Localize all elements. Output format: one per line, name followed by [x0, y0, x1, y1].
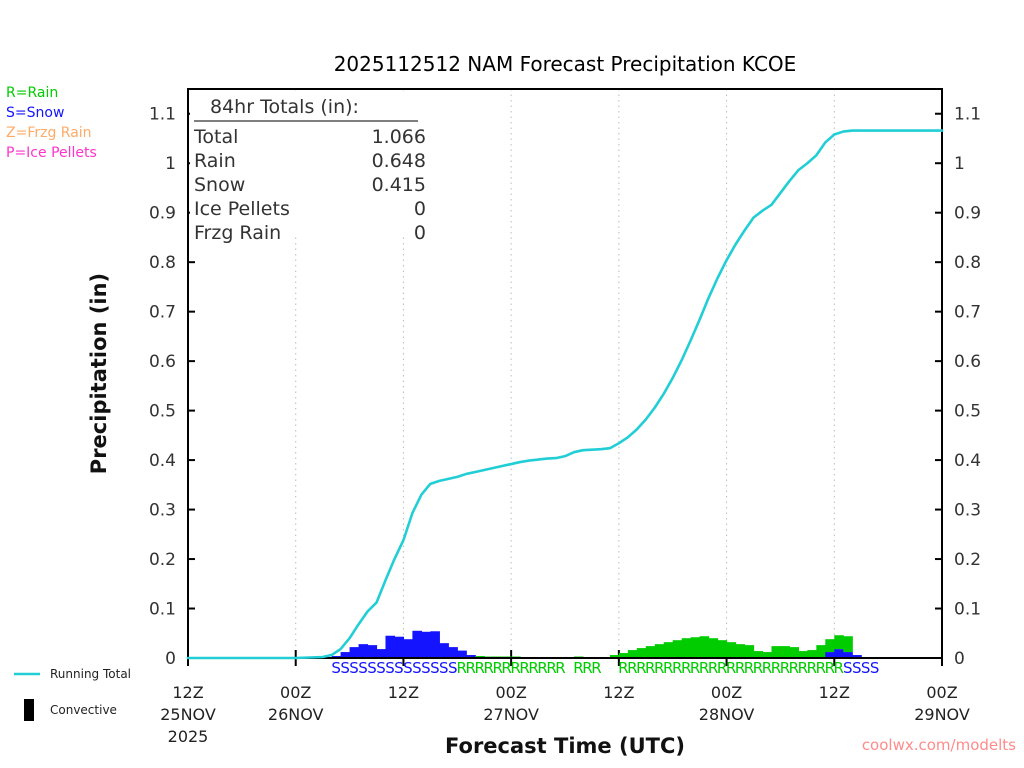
precip-bar-rain [771, 646, 781, 658]
x-tick-date: 25NOV [160, 705, 216, 724]
y-tick-label-right: 1 [954, 154, 965, 174]
legend-swatch-bar [24, 699, 34, 721]
x-tick-time: 12Z [172, 683, 203, 702]
precip-bar-rain [700, 636, 710, 658]
x-tick-time: 00Z [711, 683, 742, 702]
precip-bar-rain [816, 645, 826, 658]
totals-row-value: 0 [414, 198, 426, 220]
precip-bar-rain [691, 637, 701, 658]
precip-bar-snow [834, 649, 844, 658]
precip-bar-rain [673, 640, 683, 658]
precip-bar-snow [421, 632, 431, 658]
precip-bar-snow [448, 647, 458, 658]
x-tick-time: 00Z [280, 683, 311, 702]
x-tick-time: 12Z [388, 683, 419, 702]
ptype-legend-item-R: R=Rain [6, 85, 58, 101]
series-legend: Running TotalConvective [14, 667, 131, 721]
precip-bar-rain [843, 636, 853, 652]
totals-row-label: Snow [194, 174, 245, 196]
y-tick-label-left: 0.5 [149, 402, 176, 422]
precip-bar-rain [834, 635, 844, 649]
precip-bar-rain [628, 650, 638, 658]
precip-bar-snow [457, 651, 467, 658]
x-tick-date: 27NOV [483, 705, 539, 724]
precip-bar-rain [646, 646, 656, 658]
ptype-legend-item-S: S=Snow [6, 105, 64, 121]
precip-bar-rain [825, 639, 835, 652]
y-tick-label-left: 0.3 [149, 501, 176, 521]
totals-heading: 84hr Totals (in): [210, 96, 359, 118]
meteogram-page: 2025112512 NAM Forecast Precipitation KC… [0, 0, 1024, 768]
precip-bar-rain [718, 640, 728, 658]
y-tick-label-right: 0 [954, 649, 965, 669]
precip-bar-rain [807, 650, 817, 658]
ptype-legend: R=RainS=SnowZ=Frzg RainP=Ice Pellets [6, 85, 97, 161]
precip-bar-rain [754, 651, 764, 658]
x-tick-date: 29NOV [914, 705, 970, 724]
y-tick-label-left: 0.6 [149, 352, 176, 372]
y-tick-label-left: 0.7 [149, 303, 176, 323]
precip-bar-rain [789, 647, 799, 658]
y-tick-label-right: 1.1 [954, 105, 981, 125]
precip-bar-rain [655, 644, 665, 658]
x-tick-time: 12Z [819, 683, 850, 702]
precip-bar-snow [412, 631, 422, 658]
ptype-letter-R: R [555, 659, 565, 677]
watermark: coolwx.com/modelts [862, 736, 1016, 754]
precip-bar-rain [475, 656, 485, 657]
precip-bar-rain [637, 648, 647, 658]
y-tick-label-right: 0.4 [954, 451, 981, 471]
y-tick-label-left: 0.2 [149, 550, 176, 570]
precip-bar-snow [350, 647, 360, 658]
x-axis-label: Forecast Time (UTC) [445, 734, 685, 758]
precipitation-meteogram: 2025112512 NAM Forecast Precipitation KC… [0, 0, 1024, 768]
precip-bar-snow [359, 644, 369, 658]
y-tick-label-left: 0 [165, 649, 176, 669]
totals-row-label: Ice Pellets [194, 198, 290, 220]
x-tick-time: 12Z [603, 683, 634, 702]
legend-label-running-total: Running Total [50, 667, 131, 681]
precip-bar-snow [368, 645, 378, 658]
precip-bar-snow [430, 631, 440, 658]
y-tick-label-left: 0.8 [149, 253, 176, 273]
y-tick-label-left: 1.1 [149, 105, 176, 125]
ptype-legend-item-P: P=Ice Pellets [6, 145, 97, 161]
precip-bar-rain [780, 646, 790, 658]
y-tick-label-right: 0.6 [954, 352, 981, 372]
x-tick-time: 00Z [926, 683, 957, 702]
ptype-letter-R: R [591, 659, 601, 677]
precip-bar-rain [727, 642, 737, 658]
y-tick-label-right: 0.9 [954, 204, 981, 224]
x-tick-date: 28NOV [699, 705, 755, 724]
y-tick-label-right: 0.1 [954, 600, 981, 620]
y-tick-label-right: 0.8 [954, 253, 981, 273]
y-tick-label-left: 1 [165, 154, 176, 174]
y-tick-label-left: 0.4 [149, 451, 176, 471]
totals-row-value: 0.648 [372, 150, 426, 172]
y-tick-label-right: 0.5 [954, 402, 981, 422]
totals-row-value: 0.415 [372, 174, 426, 196]
totals-row-value: 0 [414, 222, 426, 244]
precip-bar-rain [736, 644, 746, 658]
x-tick-date: 26NOV [268, 705, 324, 724]
y-tick-label-right: 0.7 [954, 303, 981, 323]
precip-bar-snow [403, 639, 413, 658]
y-tick-label-right: 0.2 [954, 550, 981, 570]
legend-label-convective: Convective [50, 703, 117, 717]
ptype-letter-S: S [870, 659, 880, 677]
precip-bar-rain [664, 642, 674, 658]
precip-bar-snow [385, 636, 395, 658]
totals-row-label: Rain [194, 150, 236, 172]
x-tick-time: 00Z [495, 683, 526, 702]
totals-box: 84hr Totals (in):Total1.066Rain0.648Snow… [190, 91, 442, 244]
precip-bar-rain [709, 638, 719, 658]
x-tick-year: 2025 [168, 727, 209, 746]
totals-row-value: 1.066 [372, 126, 426, 148]
precip-bars [332, 631, 871, 658]
y-tick-label-left: 0.1 [149, 600, 176, 620]
totals-row-label: Frzg Rain [194, 222, 281, 244]
chart-title: 2025112512 NAM Forecast Precipitation KC… [334, 52, 797, 76]
precip-bar-rain [745, 645, 755, 658]
precip-bar-rain [682, 638, 692, 658]
precip-bar-rain [798, 651, 808, 658]
y-tick-label-right: 0.3 [954, 501, 981, 521]
y-axis-label: Precipitation (in) [87, 273, 111, 474]
y-tick-label-left: 0.9 [149, 204, 176, 224]
totals-row-label: Total [193, 126, 238, 148]
precip-bar-snow [394, 637, 404, 658]
ptype-legend-item-Z: Z=Frzg Rain [6, 125, 92, 141]
ptype-row: SSSSSSSSSSSSSSRRRRRRRRRRRRRRRRRRRRRRRRRR… [331, 659, 879, 677]
precip-bar-snow [439, 643, 449, 658]
precip-bar-snow [377, 649, 387, 658]
